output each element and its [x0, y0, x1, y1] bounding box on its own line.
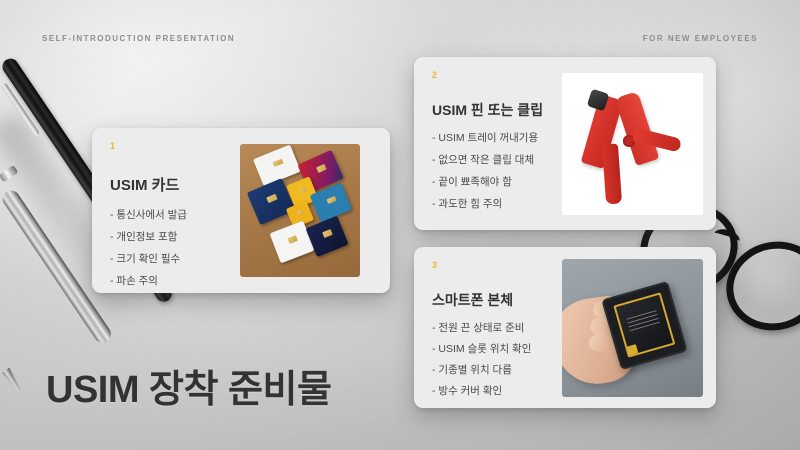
card-1-title: USIM 카드	[110, 177, 228, 195]
card-2-bullet-2: - 없으면 작은 클립 대체	[432, 152, 550, 167]
card-1-number: 1	[110, 142, 228, 151]
card-3-body: 3 스마트폰 본체 - 전원 끈 상태로 준비 - USIM 슬롯 위치 확인 …	[414, 247, 562, 408]
card-3-bullet-1: - 전원 끈 상태로 준비	[432, 320, 550, 335]
slide-header-meta: SELF-INTRODUCTION PRESENTATION FOR NEW E…	[0, 34, 800, 43]
card-3-title: 스마트폰 본체	[432, 292, 550, 309]
clamp-handle-lower	[602, 144, 622, 205]
header-right-label: FOR NEW EMPLOYEES	[643, 34, 758, 43]
card-2-bullet-list: - USIM 트레이 꺼내기용 - 없으면 작은 클립 대체 - 끝이 뾰족해야…	[432, 130, 550, 218]
sim-cards-photo	[240, 144, 360, 277]
card-2-bullet-1: - USIM 트레이 꺼내기용	[432, 130, 550, 145]
card-1-body: 1 USIM 카드 - 통신사에서 발급 - 개인정보 포함 - 크기 확인 필…	[92, 128, 240, 293]
content-card-1[interactable]: 1 USIM 카드 - 통신사에서 발급 - 개인정보 포함 - 크기 확인 필…	[92, 128, 390, 293]
content-card-2[interactable]: 2 USIM 핀 또는 클립 - USIM 트레이 꺼내기용 - 없으면 작은 …	[414, 57, 716, 230]
red-clamp-photo	[562, 73, 703, 215]
card-2-bullet-3: - 끝이 뾰족해야 함	[432, 174, 550, 189]
card-2-title: USIM 핀 또는 클립	[432, 102, 550, 119]
card-1-bullet-list: - 통신사에서 발급 - 개인정보 포함 - 크기 확인 필수 - 파손 주의	[110, 207, 228, 293]
page-title: USIM 장착 준비물	[46, 358, 331, 413]
card-3-bullet-2: - USIM 슬롯 위치 확인	[432, 341, 550, 356]
card-2-body: 2 USIM 핀 또는 클립 - USIM 트레이 꺼내기용 - 없으면 작은 …	[414, 57, 562, 230]
hand-holding-module-photo	[562, 259, 703, 397]
card-3-bullet-list: - 전원 끈 상태로 준비 - USIM 슬롯 위치 확인 - 기종별 위치 다…	[432, 320, 550, 404]
header-left-label: SELF-INTRODUCTION PRESENTATION	[42, 34, 235, 43]
card-1-bullet-3: - 크기 확인 필수	[110, 251, 228, 266]
card-1-bullet-1: - 통신사에서 발급	[110, 207, 228, 222]
card-2-bullet-4: - 과도한 힘 주의	[432, 196, 550, 211]
card-3-bullet-3: - 기종별 위치 다름	[432, 362, 550, 377]
card-2-number: 2	[432, 71, 550, 80]
content-card-3[interactable]: 3 스마트폰 본체 - 전원 끈 상태로 준비 - USIM 슬롯 위치 확인 …	[414, 247, 716, 408]
card-3-number: 3	[432, 261, 550, 270]
card-1-bullet-4: - 파손 주의	[110, 273, 228, 288]
card-3-bullet-4: - 방수 커버 확인	[432, 383, 550, 398]
card-1-bullet-2: - 개인정보 포함	[110, 229, 228, 244]
presentation-slide: SELF-INTRODUCTION PRESENTATION FOR NEW E…	[0, 0, 800, 450]
